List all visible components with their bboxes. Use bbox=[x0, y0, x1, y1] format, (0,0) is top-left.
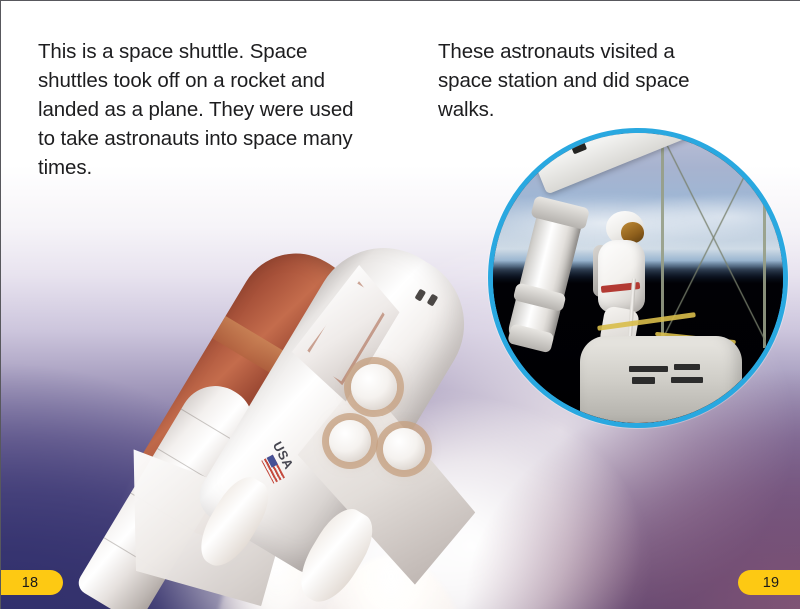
cargo-label-icon bbox=[629, 366, 668, 373]
main-engine-nozzle bbox=[351, 364, 397, 410]
main-engine-nozzle bbox=[383, 428, 425, 470]
right-page-body-text: These astronauts visited a space station… bbox=[438, 37, 698, 124]
robotic-arm-joint bbox=[513, 282, 567, 312]
left-page-body-text: This is a space shuttle. Space shuttles … bbox=[38, 37, 358, 182]
page-number-tab-right: 19 bbox=[738, 570, 800, 595]
space-shuttle-illustration: USA bbox=[61, 206, 491, 596]
astronaut-suit-torso bbox=[598, 240, 645, 313]
cargo-label-icon bbox=[671, 377, 703, 383]
book-page-spread: USA This is a space shuttle. Space shutt… bbox=[0, 0, 800, 609]
station-cargo-carrier bbox=[580, 336, 742, 428]
cockpit-window-icon bbox=[414, 289, 426, 302]
spacewalk-circular-photo bbox=[488, 128, 788, 428]
main-engine-nozzle bbox=[329, 420, 371, 462]
cockpit-window-icon bbox=[427, 294, 439, 307]
cargo-label-icon bbox=[674, 364, 700, 371]
page-number-tab-left: 18 bbox=[1, 570, 63, 595]
cargo-label-icon bbox=[632, 377, 655, 384]
module-panel-icon bbox=[569, 138, 586, 154]
